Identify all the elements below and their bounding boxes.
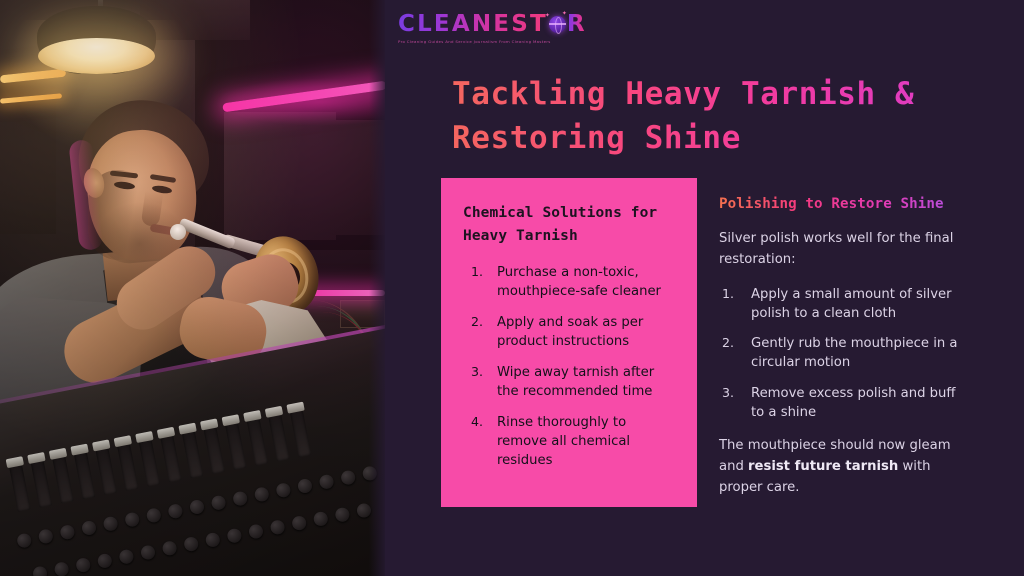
polishing-steps-list: Apply a small amount of silver polish to… (719, 285, 971, 422)
list-item: Rinse thoroughly to remove all chemical … (463, 413, 675, 470)
globe-icon: ✦ ✦ (549, 16, 566, 33)
logo-text-part1: CLEANEST (398, 13, 548, 36)
list-item: Purchase a non-toxic, mouthpiece-safe cl… (463, 263, 675, 301)
list-item: Remove excess polish and buff to a shine (719, 384, 971, 422)
logo-tagline: Pro Cleaning Guides And Service Journali… (398, 39, 587, 44)
section-heading: Polishing to Restore Shine (719, 194, 971, 215)
sparkle-icon: ✦ (562, 11, 567, 17)
card-heading: Chemical Solutions for Heavy Tarnish (463, 202, 675, 249)
title-line-1: Tackling Heavy Tarnish & (452, 72, 972, 116)
sparkle-icon: ✦ (545, 13, 550, 19)
list-item: Gently rub the mouthpiece in a circular … (719, 334, 971, 372)
slide-title: Tackling Heavy Tarnish & Restoring Shine (452, 72, 972, 160)
photo-edge-fade (369, 0, 385, 576)
chemical-steps-list: Purchase a non-toxic, mouthpiece-safe cl… (463, 263, 675, 470)
list-item: Apply a small amount of silver polish to… (719, 285, 971, 323)
photo-color-grade (0, 0, 385, 576)
chemical-solutions-card: Chemical Solutions for Heavy Tarnish Pur… (441, 178, 697, 507)
slide-root: CLEANEST ✦ ✦ R Pro Cleaning Guides And S… (0, 0, 1024, 576)
hero-photo (0, 0, 385, 576)
brand-logo[interactable]: CLEANEST ✦ ✦ R Pro Cleaning Guides And S… (398, 13, 587, 44)
outro-text-bold: resist future tarnish (748, 459, 898, 474)
title-line-2: Restoring Shine (452, 116, 972, 160)
section-intro: Silver polish works well for the final r… (719, 229, 971, 271)
list-item: Apply and soak as per product instructio… (463, 313, 675, 351)
section-outro: The mouthpiece should now gleam and resi… (719, 436, 971, 499)
logo-text-part2: R (567, 13, 587, 36)
logo-wordmark: CLEANEST ✦ ✦ R (398, 13, 587, 36)
polishing-section: Polishing to Restore Shine Silver polish… (719, 194, 971, 498)
list-item: Wipe away tarnish after the recommended … (463, 363, 675, 401)
